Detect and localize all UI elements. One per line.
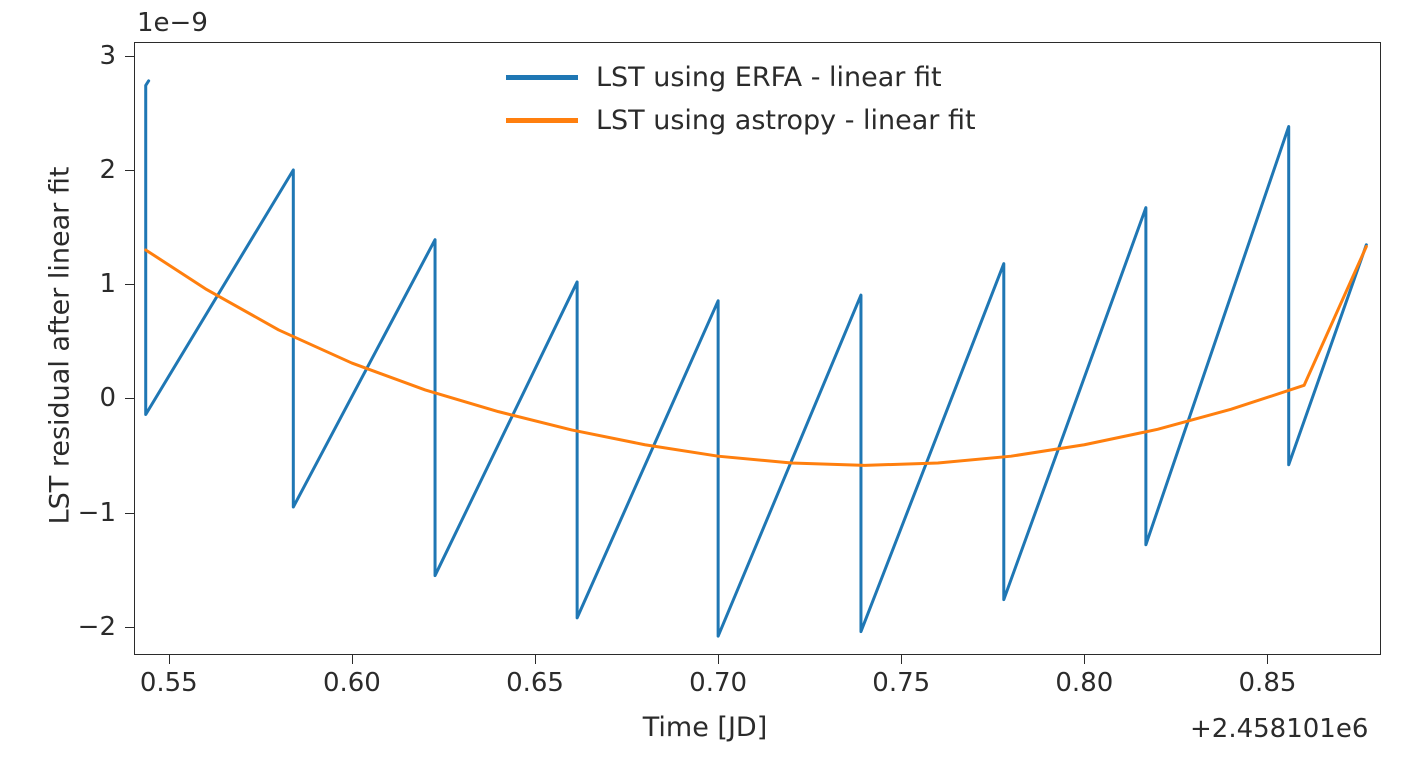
x-tick-mark — [1267, 655, 1268, 664]
legend-swatch-erfa — [506, 75, 578, 80]
x-tick-mark — [352, 655, 353, 664]
y-tick-mark — [125, 170, 134, 171]
x-tick-label: 0.85 — [1207, 668, 1327, 698]
x-tick-label: 0.75 — [841, 668, 961, 698]
x-axis-title: Time [JD] — [0, 712, 1410, 743]
y-tick-mark — [125, 513, 134, 514]
x-tick-label: 0.65 — [475, 668, 595, 698]
y-tick-mark — [125, 56, 134, 57]
series-line-erfa — [146, 81, 1367, 636]
x-tick-mark — [535, 655, 536, 664]
y-tick-mark — [125, 398, 134, 399]
x-tick-label: 0.55 — [109, 668, 229, 698]
legend-label-astropy: LST using astropy - linear fit — [596, 105, 976, 136]
legend-label-erfa: LST using ERFA - linear fit — [596, 62, 942, 93]
legend: LST using ERFA - linear fit LST using as… — [498, 58, 984, 140]
y-tick-mark — [125, 627, 134, 628]
x-tick-mark — [169, 655, 170, 664]
y-axis-title: LST residual after linear fit — [45, 26, 76, 666]
x-tick-mark — [1084, 655, 1085, 664]
x-tick-mark — [718, 655, 719, 664]
x-tick-label: 0.70 — [658, 668, 778, 698]
legend-item-erfa: LST using ERFA - linear fit — [506, 62, 976, 93]
legend-item-astropy: LST using astropy - linear fit — [506, 105, 976, 136]
legend-swatch-astropy — [506, 118, 578, 123]
x-tick-label: 0.60 — [292, 668, 412, 698]
x-tick-mark — [901, 655, 902, 664]
figure-canvas: 1e−9 3210−1−2 0.550.600.650.700.750.800.… — [0, 0, 1410, 770]
y-tick-mark — [125, 284, 134, 285]
x-tick-label: 0.80 — [1024, 668, 1144, 698]
y-axis-offset-label: 1e−9 — [137, 8, 208, 38]
